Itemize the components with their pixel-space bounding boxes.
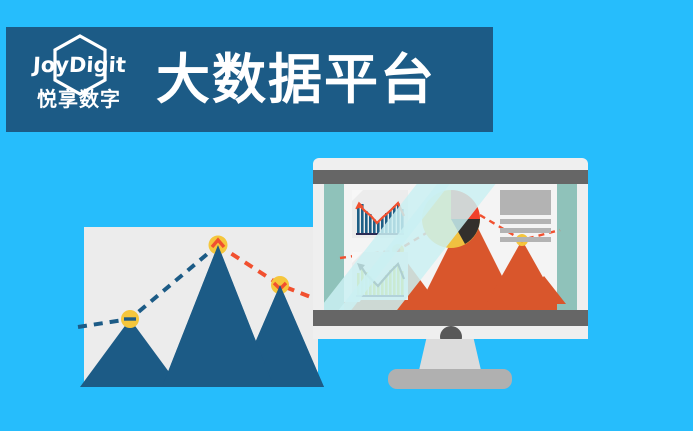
screen-side-panel-left (324, 184, 344, 310)
placeholder-line (500, 219, 551, 224)
poster-canvas: JoyDigit 悦享数字 大数据平台 (0, 0, 693, 431)
placeholder-main-block (500, 190, 551, 215)
mountain-shape-small (80, 319, 180, 387)
page-title: 大数据平台 (156, 53, 436, 107)
left-mountain-chart (84, 227, 318, 387)
monitor-bezel-bottom (313, 310, 588, 326)
pie-slice-red (451, 190, 480, 219)
monitor-bezel-top (313, 170, 588, 184)
brand-logo: JoyDigit 悦享数字 (20, 34, 138, 126)
placeholder-line (500, 237, 551, 242)
bar-series-olive (357, 264, 404, 295)
left-chart-svg (84, 227, 318, 387)
placeholder-line (500, 228, 551, 233)
bar-chart-card-olive[interactable] (352, 252, 408, 300)
header-banner: JoyDigit 悦享数字 大数据平台 (6, 27, 493, 132)
chart-baseline (356, 295, 404, 297)
monitor-base (388, 369, 512, 389)
chart-baseline (356, 233, 404, 235)
screen-side-panel-right (557, 184, 577, 310)
page-fold-corner (352, 252, 363, 263)
pie-chart[interactable] (420, 188, 482, 250)
dashboard-content[interactable] (344, 184, 557, 310)
page-fold-corner (352, 190, 363, 201)
desktop-monitor (313, 158, 588, 339)
bar-series-blue (357, 203, 404, 233)
monitor-screen (324, 184, 577, 310)
logo-chinese-text: 悦享数字 (37, 90, 121, 110)
bar-chart-card-blue[interactable] (352, 190, 408, 238)
text-placeholder-block (500, 190, 551, 242)
logo-english-text: JoyDigit (32, 55, 126, 76)
